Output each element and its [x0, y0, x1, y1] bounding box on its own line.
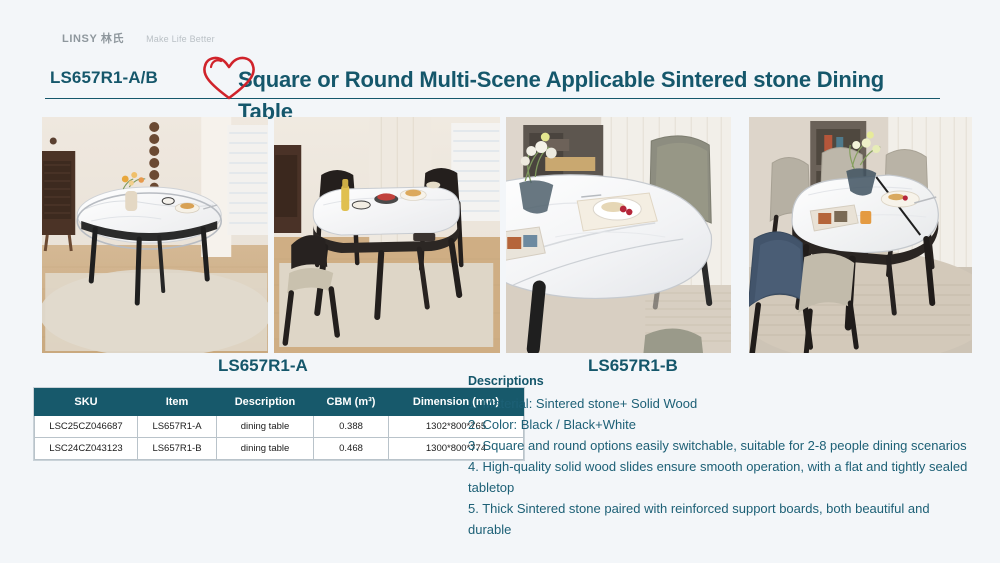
- product-image-gallery: [42, 117, 972, 353]
- cell-item: LS657R1-A: [138, 416, 217, 438]
- cell-item: LS657R1-B: [138, 438, 217, 460]
- cell-cbm: 0.468: [314, 438, 389, 460]
- brand-tagline: Make Life Better: [146, 34, 215, 44]
- caption-right: LS657R1-B: [588, 356, 678, 376]
- model-code: LS657R1-A/B: [50, 68, 158, 88]
- cell-sku: LSC24CZ043123: [35, 438, 138, 460]
- brand-logo: LINSY 林氏 Make Life Better: [62, 30, 215, 46]
- cell-description: dining table: [217, 416, 314, 438]
- cell-cbm: 0.388: [314, 416, 389, 438]
- brand-name: LINSY 林氏: [62, 30, 124, 46]
- table-row: LSC24CZ043123 LS657R1-B dining table 0.4…: [35, 438, 524, 460]
- spec-table: SKU Item Description CBM (m³) Dimension …: [34, 388, 524, 460]
- product-photo-3[interactable]: [506, 117, 732, 353]
- cell-sku: LSC25CZ046687: [35, 416, 138, 438]
- table-header-row: SKU Item Description CBM (m³) Dimension …: [35, 389, 524, 416]
- product-photo-2[interactable]: [274, 117, 500, 353]
- th-item: Item: [138, 389, 217, 416]
- th-sku: SKU: [35, 389, 138, 416]
- table-row: LSC25CZ046687 LS657R1-A dining table 0.3…: [35, 416, 524, 438]
- product-photo-1[interactable]: [42, 117, 268, 353]
- description-item-5: 5. Thick Sintered stone paired with rein…: [468, 498, 968, 540]
- th-cbm: CBM (m³): [314, 389, 389, 416]
- cell-description: dining table: [217, 438, 314, 460]
- descriptions-heading: Descriptions: [468, 374, 968, 388]
- description-item-2: 2. Color: Black / Black+White: [468, 414, 968, 435]
- description-item-1: 1. Material: Sintered stone+ Solid Wood: [468, 393, 968, 414]
- description-item-4: 4. High-quality solid wood slides ensure…: [468, 456, 968, 498]
- title-divider: [45, 98, 940, 99]
- th-description: Description: [217, 389, 314, 416]
- product-photo-4[interactable]: [749, 117, 972, 353]
- description-item-3: 3. Square and round options easily switc…: [468, 435, 968, 456]
- caption-left: LS657R1-A: [218, 356, 308, 376]
- descriptions-block: Descriptions 1. Material: Sintered stone…: [468, 374, 968, 540]
